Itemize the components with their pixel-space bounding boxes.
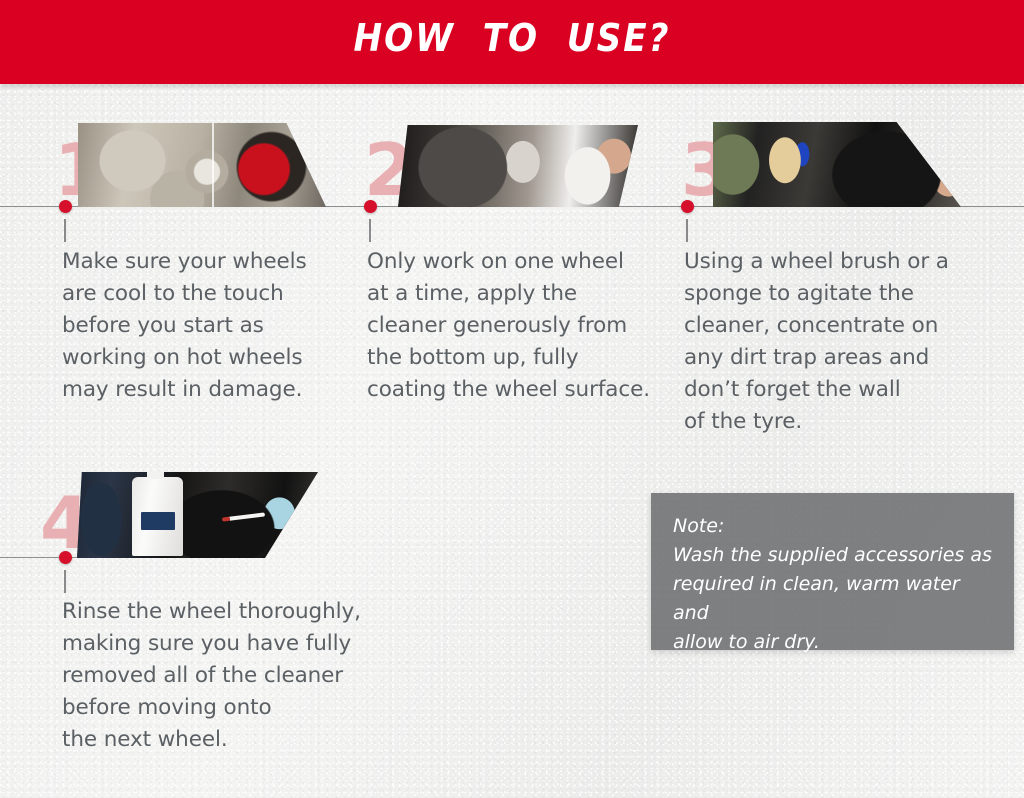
note-text: Note: Wash the supplied accessories as r… <box>673 512 1000 657</box>
step-2-marker-dot <box>364 200 377 213</box>
step-3-photo <box>713 122 961 207</box>
step-4-bottle-neck <box>147 472 164 479</box>
step-2-text: Only work on one wheel at a time, apply … <box>367 246 667 406</box>
step-3-photo-image <box>713 122 961 207</box>
step-3-tick <box>686 219 688 242</box>
step-1-text: Make sure your wheels are cool to the to… <box>62 246 362 406</box>
step-4-text: Rinse the wheel thoroughly, making sure … <box>62 596 392 756</box>
step-2-tick <box>369 219 371 242</box>
step-1-marker-dot <box>59 200 72 213</box>
step-4-bottle-label <box>141 512 175 531</box>
step-4-marker-dot <box>59 551 72 564</box>
step-4-photo-image <box>77 472 318 558</box>
step-1-photo-seam <box>212 123 214 207</box>
step-4-tick <box>64 570 66 593</box>
step-4-photo <box>77 472 318 558</box>
step-2-photo <box>398 125 638 207</box>
step-3-text: Using a wheel brush or a sponge to agita… <box>684 246 984 438</box>
step-1-photo-image <box>78 123 326 207</box>
note-box: Note: Wash the supplied accessories as r… <box>651 493 1014 650</box>
header-banner: HOW TO USE? <box>0 0 1024 84</box>
infographic-page: HOW TO USE? 1 Make sure your wheels are … <box>0 0 1024 798</box>
step-1-tick <box>64 219 66 242</box>
step-2-photo-image <box>398 125 638 207</box>
page-title: HOW TO USE? <box>0 16 1024 60</box>
step-3-marker-dot <box>681 200 694 213</box>
step-1-photo <box>78 123 326 207</box>
